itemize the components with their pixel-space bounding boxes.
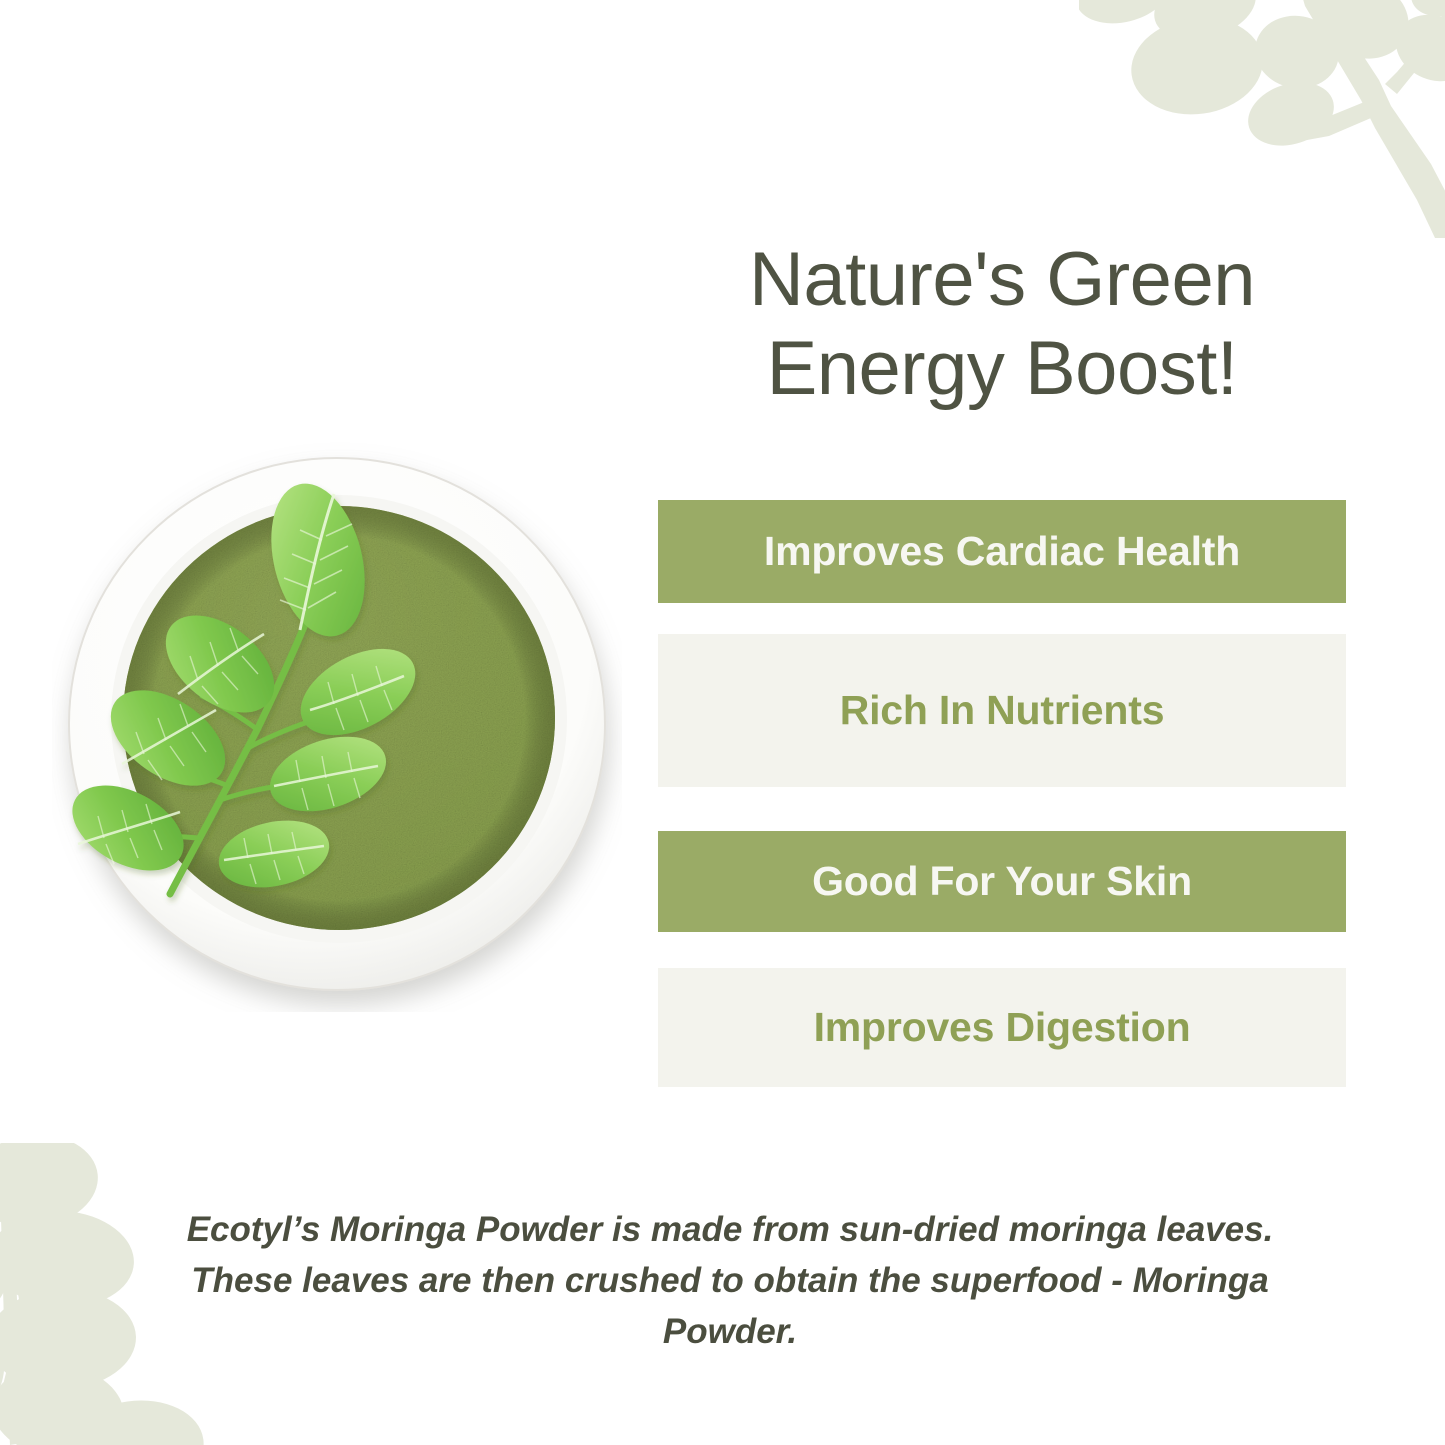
headline-line-2: Energy Boost! — [767, 326, 1238, 411]
benefit-label-2: Rich In Nutrients — [840, 690, 1165, 731]
benefits-list: Improves Cardiac Health Rich In Nutrient… — [658, 500, 1346, 1087]
benefit-item-4: Improves Digestion — [658, 968, 1346, 1087]
benefit-label-4: Improves Digestion — [814, 1007, 1191, 1048]
headline-line-1: Nature's Green — [749, 237, 1255, 322]
product-description: Ecotyl’s Moringa Powder is made from sun… — [150, 1205, 1310, 1357]
benefit-label-3: Good For Your Skin — [812, 861, 1192, 902]
headline-block: Nature's GreenEnergy Boost! — [658, 236, 1346, 414]
product-image-moringa-bowl — [52, 442, 622, 1012]
promo-card: Nature's GreenEnergy Boost! Improves Car… — [0, 0, 1445, 1445]
benefit-item-2: Rich In Nutrients — [658, 634, 1346, 787]
benefit-label-1: Improves Cardiac Health — [764, 531, 1240, 572]
benefit-item-3: Good For Your Skin — [658, 831, 1346, 932]
benefit-item-1: Improves Cardiac Health — [658, 500, 1346, 603]
page-title: Nature's GreenEnergy Boost! — [658, 236, 1346, 414]
moringa-branch-silhouette-icon — [1079, 0, 1445, 238]
